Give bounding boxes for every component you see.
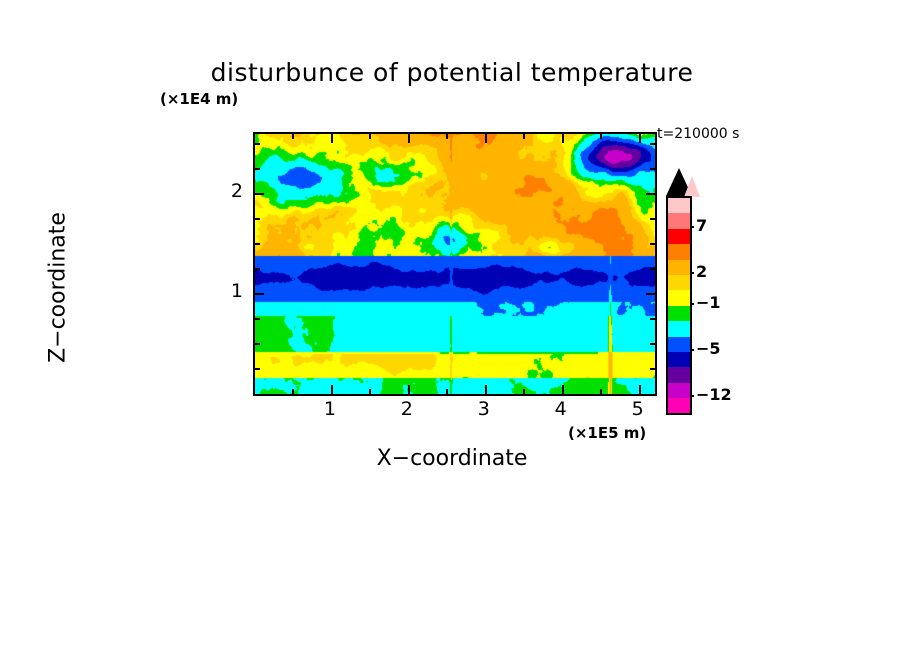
y-tick-label: 2 (219, 180, 243, 202)
time-annotation: t=210000 s (657, 126, 739, 142)
colorbar-tick (690, 226, 694, 228)
y-tick-right (650, 368, 655, 370)
colorbar-tick (690, 349, 694, 351)
x-axis-unit-label: (×1E5 m) (568, 424, 646, 442)
x-tick-bottom (369, 389, 371, 394)
contour-field (255, 134, 655, 394)
y-tick-right (646, 193, 655, 195)
x-tick-label: 5 (623, 398, 653, 420)
x-tick-bottom (562, 385, 564, 394)
y-tick (255, 168, 260, 170)
colorbar-band (666, 321, 692, 336)
x-tick (562, 134, 564, 143)
x-tick-bottom (523, 389, 525, 394)
x-tick (292, 134, 294, 139)
x-tick-bottom (639, 385, 641, 394)
y-tick-right (650, 243, 655, 245)
x-tick (523, 134, 525, 139)
colorbar-band (666, 398, 692, 415)
colorbar-band (666, 229, 692, 244)
colorbar-band (666, 352, 692, 367)
y-tick-right (650, 218, 655, 220)
x-tick (600, 134, 602, 139)
colorbar-tick-label: 2 (696, 262, 707, 281)
y-tick (255, 268, 260, 270)
contour-plot-area (253, 132, 657, 396)
colorbar-tick-label: −1 (696, 293, 721, 312)
colorbar-band (666, 306, 692, 321)
x-tick (446, 134, 448, 139)
y-tick-right (650, 143, 655, 145)
x-tick-label: 3 (469, 398, 499, 420)
x-tick-bottom (408, 385, 410, 394)
x-tick (331, 134, 333, 143)
colorbar-band (666, 367, 692, 382)
y-axis-title: Z−coordinate (46, 138, 71, 438)
x-tick-bottom (485, 385, 487, 394)
x-tick (408, 134, 410, 143)
colorbar-band (666, 260, 692, 275)
colorbar-tick-label: −12 (696, 385, 732, 404)
x-tick-bottom (292, 389, 294, 394)
y-tick (255, 293, 264, 295)
x-tick (485, 134, 487, 143)
x-tick-bottom (331, 385, 333, 394)
colorbar-band (666, 383, 692, 398)
colorbar-band (666, 196, 692, 213)
chart-title: disturbunce of potential temperature (0, 58, 904, 87)
x-tick-bottom (446, 389, 448, 394)
colorbar-band (666, 275, 692, 290)
y-tick (255, 243, 260, 245)
y-tick (255, 343, 260, 345)
y-tick-right (650, 268, 655, 270)
x-tick (639, 134, 641, 143)
colorbar-band (666, 290, 692, 305)
y-tick (255, 368, 260, 370)
x-tick-label: 2 (392, 398, 422, 420)
y-tick (255, 143, 260, 145)
colorbar-band (666, 337, 692, 352)
colorbar (666, 196, 688, 415)
colorbar-tick-label: −5 (696, 339, 721, 358)
y-tick (255, 318, 260, 320)
y-tick (255, 218, 260, 220)
colorbar-tick (690, 395, 694, 397)
y-axis-unit-label: (×1E4 m) (160, 90, 238, 108)
colorbar-tick-label: 7 (696, 216, 707, 235)
x-axis-title: X−coordinate (0, 446, 904, 471)
colorbar-band (666, 213, 692, 228)
y-tick-right (650, 318, 655, 320)
y-tick (255, 193, 264, 195)
colorbar-band (666, 244, 692, 259)
y-tick-label: 1 (219, 280, 243, 302)
y-tick-right (650, 168, 655, 170)
y-tick-right (646, 293, 655, 295)
colorbar-tick (690, 272, 694, 274)
x-tick-bottom (600, 389, 602, 394)
x-tick (369, 134, 371, 139)
y-tick-right (650, 343, 655, 345)
x-tick-label: 1 (315, 398, 345, 420)
colorbar-arrow-icon (666, 168, 692, 196)
x-tick-label: 4 (546, 398, 576, 420)
colorbar-tick (690, 303, 694, 305)
